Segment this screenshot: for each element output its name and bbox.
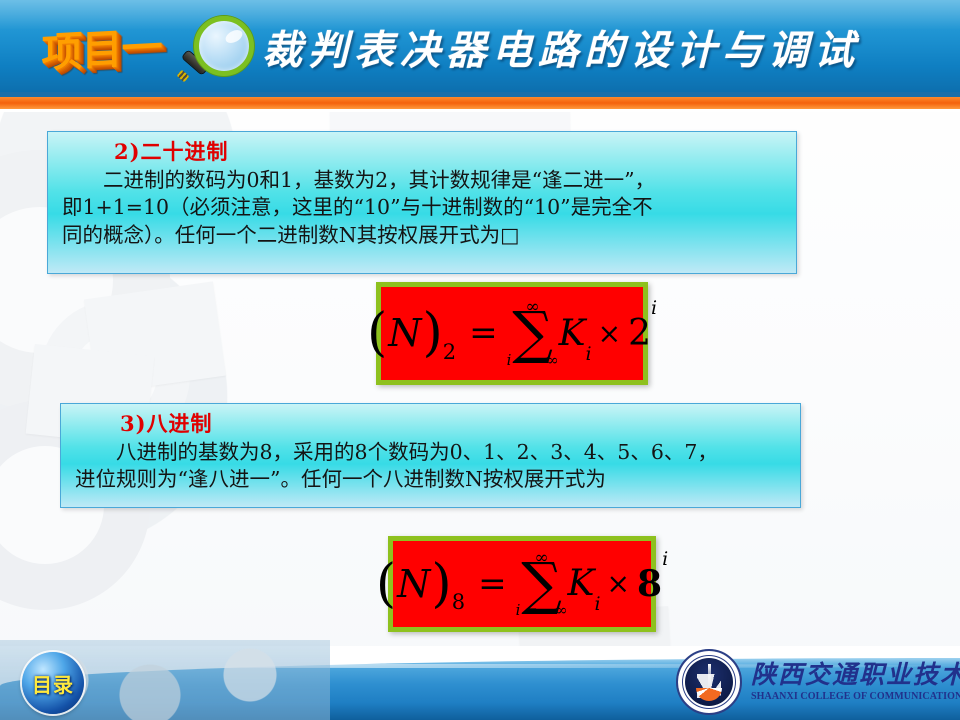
formula-subscript: 8 <box>452 590 469 614</box>
college-seal-icon <box>676 649 742 715</box>
formula-times: × <box>601 567 637 600</box>
octal-formula: ( N ) 8 = ∞ ∑ i = −∞ K i × 8 i <box>376 550 668 618</box>
formula-equals: = <box>469 564 516 604</box>
octal-section-box: 3)八进制 八进制的基数为8，采用的8个数码为0、1、2、3、4、5、6、7， … <box>60 403 801 508</box>
sigma-icon: ∑ <box>521 562 562 606</box>
binary-paragraph-1: 二进制的数码为0和1，基数为2，其计数规律是“逢二进一”， <box>62 167 782 194</box>
octal-paragraph-2: 进位规则为“逢八进一”。任何一个八进制数N按权展开式为 <box>75 466 786 493</box>
formula-equals: = <box>460 313 507 353</box>
college-logo: 陕西交通职业技术学院 SHAANXI COLLEGE OF COMMUNICAT… <box>676 648 958 716</box>
binary-section-body: 二进制的数码为0和1，基数为2，其计数规律是“逢二进一”， 即1+1=10（必须… <box>62 167 782 249</box>
octal-section-body: 八进制的基数为8，采用的8个数码为0、1、2、3、4、5、6、7， 进位规则为“… <box>75 439 786 494</box>
binary-paragraph-3: 同的概念）。任何一个二进制数N其按权展开式为□ <box>62 222 782 249</box>
seal-inner <box>685 658 733 706</box>
formula-exponent: i <box>651 297 657 319</box>
formula-coefficient-sub: i <box>586 343 592 365</box>
college-name-cn: 陕西交通职业技术学院 <box>751 662 960 688</box>
binary-section-heading: 2)二十进制 <box>114 140 782 164</box>
slide: 项目一 裁判表决器电路的设计与调试 2)二十进制 二进制的数码为0和1，基数为2… <box>0 0 960 720</box>
octal-section-heading: 3)八进制 <box>120 412 786 436</box>
page-title: 裁判表决器电路的设计与调试 <box>262 16 952 78</box>
magnifier-glint <box>223 27 244 45</box>
formula-left-paren: ( <box>376 563 396 606</box>
binary-paragraph-2: 即1+1=10（必须注意，这里的“10”与十进制数的“10”是完全不 <box>62 194 782 221</box>
formula-coefficient: K <box>568 563 595 604</box>
formula-coefficient-sub: i <box>594 593 600 615</box>
header-orange-cap <box>0 109 960 112</box>
formula-exponent: i <box>662 548 668 570</box>
college-logo-text: 陕西交通职业技术学院 SHAANXI COLLEGE OF COMMUNICAT… <box>751 662 960 702</box>
seal-base <box>696 688 722 701</box>
toc-button-label: 目录 <box>32 669 74 698</box>
formula-coefficient: K <box>559 313 586 354</box>
college-name-en: SHAANXI COLLEGE OF COMMUNICATION TECHNOL… <box>751 691 960 702</box>
summation-lower-limit: i = −∞ <box>516 603 568 618</box>
formula-right-paren: ) <box>431 563 451 606</box>
binary-formula-box: ( N ) 2 = ∞ ∑ i = −∞ K i × 2 i <box>376 282 648 385</box>
formula-base: 2 <box>628 313 651 354</box>
table-of-contents-button[interactable]: 目录 <box>22 652 84 714</box>
formula-subscript: 2 <box>443 340 460 364</box>
formula-base: 8 <box>637 563 662 605</box>
binary-formula: ( N ) 2 = ∞ ∑ i = −∞ K i × 2 i <box>367 299 657 367</box>
magnifier-lens <box>194 16 254 76</box>
formula-summation: ∞ ∑ i = −∞ <box>507 299 559 367</box>
sigma-icon: ∑ <box>512 311 553 355</box>
formula-variable: N <box>396 562 431 606</box>
octal-paragraph-1: 八进制的基数为8，采用的8个数码为0、1、2、3、4、5、6、7， <box>75 439 786 466</box>
octal-formula-box: ( N ) 8 = ∞ ∑ i = −∞ K i × 8 i <box>388 536 656 632</box>
project-mark: 项目一 <box>14 7 189 84</box>
formula-summation: ∞ ∑ i = −∞ <box>516 550 568 618</box>
magnifier-tip <box>177 70 190 83</box>
formula-variable: N <box>387 311 422 355</box>
magnifier-icon <box>178 14 254 86</box>
binary-section-box: 2)二十进制 二进制的数码为0和1，基数为2，其计数规律是“逢二进一”， 即1+… <box>47 131 797 274</box>
formula-right-paren: ) <box>422 312 442 355</box>
formula-times: × <box>592 317 628 350</box>
summation-lower-limit: i = −∞ <box>507 353 559 368</box>
header-orange-bar <box>0 97 960 109</box>
formula-left-paren: ( <box>367 312 387 355</box>
